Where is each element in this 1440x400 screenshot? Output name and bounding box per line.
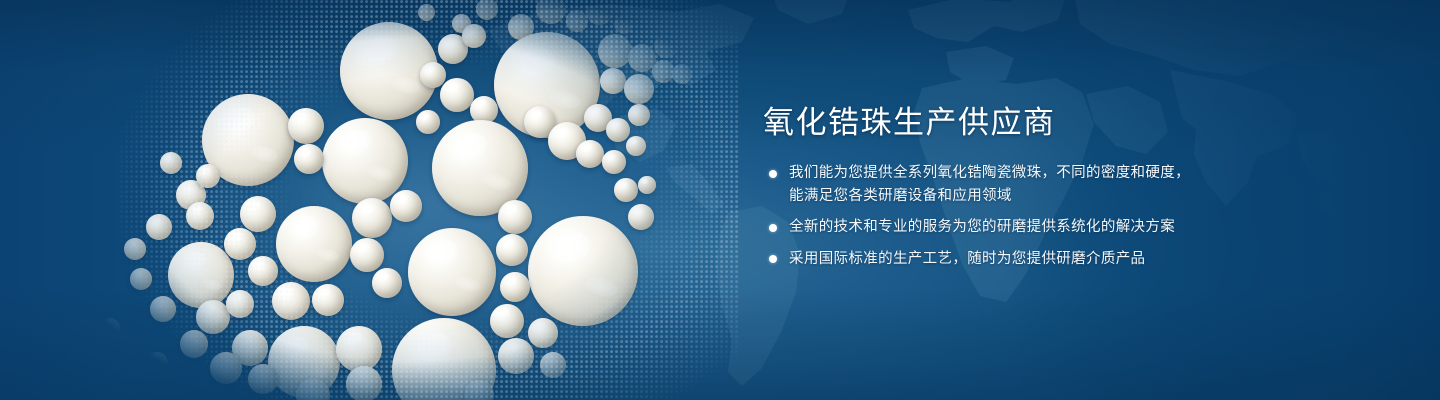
list-item: 我们能为您提供全系列氧化锆陶瓷微珠，不同的密度和硬度， 能满足您各类研磨设备和应… — [763, 162, 1383, 207]
list-item: 全新的技术和专业的服务为您的研磨提供系统化的解决方案 — [763, 216, 1383, 239]
feature-list: 我们能为您提供全系列氧化锆陶瓷微珠，不同的密度和硬度， 能满足您各类研磨设备和应… — [763, 162, 1383, 270]
bullet-dot-icon — [769, 170, 777, 178]
list-item-line: 能满足您各类研磨设备和应用领域 — [789, 185, 1383, 208]
bullet-dot-icon — [769, 224, 777, 232]
banner-copy: 氧化锆珠生产供应商 我们能为您提供全系列氧化锆陶瓷微珠，不同的密度和硬度， 能满… — [763, 106, 1383, 270]
page-title: 氧化锆珠生产供应商 — [763, 106, 1383, 140]
zirconia-beads-photo — [0, 0, 760, 400]
list-item-line: 采用国际标准的生产工艺，随时为您提供研磨介质产品 — [789, 248, 1383, 271]
list-item-line: 全新的技术和专业的服务为您的研磨提供系统化的解决方案 — [789, 216, 1383, 239]
list-item: 采用国际标准的生产工艺，随时为您提供研磨介质产品 — [763, 248, 1383, 271]
hero-banner: 氧化锆珠生产供应商 我们能为您提供全系列氧化锆陶瓷微珠，不同的密度和硬度， 能满… — [0, 0, 1440, 400]
bullet-dot-icon — [769, 255, 777, 263]
list-item-line: 我们能为您提供全系列氧化锆陶瓷微珠，不同的密度和硬度， — [789, 162, 1383, 185]
